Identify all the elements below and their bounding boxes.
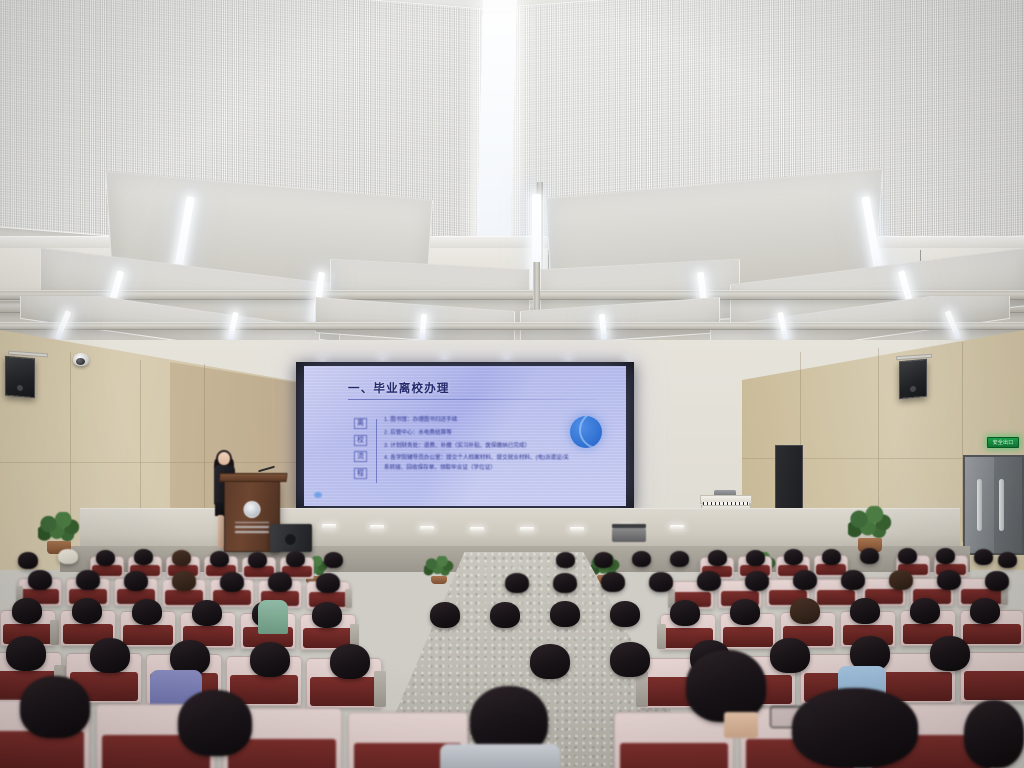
audience-head [708,550,727,566]
stage-edge-light [322,524,336,528]
audience-head [210,551,229,567]
slide-bullet: 1. 图书馆：办理图书归还手续 [384,416,574,425]
audience-head [18,552,38,569]
ceiling-light-slot [477,0,518,240]
audience-head [937,570,961,590]
audience-head [530,644,570,679]
audience-neck [724,712,758,738]
audience-head [889,570,913,590]
stage-downlight [440,356,449,361]
exit-sign-label: 安全出口 [993,439,1014,446]
audience-head [550,601,580,627]
audience-head [90,638,130,673]
audience-head [220,572,244,592]
projection-screen: 一、毕业离校办理 离 校 流 程 1. 图书馆：办理图书归还手续 2. 后管中心… [304,366,626,506]
potted-plant [38,512,80,554]
podium-top [219,473,288,482]
slide-label-box: 程 [354,468,367,479]
audience-head [930,636,970,671]
eyeglasses [770,706,814,728]
audience-head [910,598,940,624]
audience-head [649,572,673,592]
ceiling-beam [0,322,1024,330]
audience-head-foreground [792,688,918,768]
audience-head [556,552,575,568]
audience-head [505,573,529,593]
audience-head [324,552,343,568]
audience-head [998,552,1017,568]
audience-head [746,550,765,566]
audience-head [594,552,613,568]
door-push-bar[interactable] [977,479,982,531]
audience-head [316,573,340,593]
audience-torso [440,744,560,768]
slide-bullet: 2. 后管中心：水电费结算等 [384,429,574,438]
slide-decor-circle [570,416,602,448]
exit-sign: 安全出口 [987,437,1019,448]
slide-bullet: 3. 计划财务处：退费、补缴（实习补贴、医保缴纳已完成） [384,442,574,451]
audience-head [610,601,640,627]
audience-head [936,548,955,564]
audience-head [58,549,78,564]
audience-head [970,598,1000,624]
audience-head [76,570,100,590]
exit-door-right[interactable] [963,455,1024,555]
audience-head [898,548,917,564]
lecture-hall-photo: 安全出口 一、毕业离校办理 离 校 流 程 [0,0,1024,768]
stage-edge-light [570,527,584,531]
audience-head [172,550,191,566]
audience-head-foreground [964,700,1024,768]
audience-head [790,598,820,624]
audience-head [248,552,267,568]
audience-head [697,571,721,591]
slide-label-box: 流 [354,451,367,462]
audience-head [134,549,153,565]
audience-head [312,602,342,628]
stage-monitor-speaker [270,524,312,552]
stage-edge-light [420,526,434,530]
control-console [612,528,646,542]
audience-head [132,599,162,625]
audience-head [124,571,148,591]
wall-speaker-left [5,356,35,399]
stage-edge-light [520,527,534,531]
stage-edge-light [370,525,384,529]
stage-edge-light [470,527,484,531]
audience-head [490,602,520,628]
audience-head [553,573,577,593]
slide-label-column: 离 校 流 程 [354,418,367,479]
wall-seam [0,462,300,463]
audience-head [268,572,292,592]
audience-head [430,602,460,628]
audience-head [96,550,115,566]
audience-head [841,570,865,590]
audience-head [632,551,651,567]
audience-head [286,551,305,567]
audience-head [985,571,1009,591]
audience-head [28,570,52,590]
potted-plant [424,556,454,584]
audience-head [730,599,760,625]
slide-label-box: 校 [354,435,367,446]
audience-head [860,548,879,564]
audience-head [670,551,689,567]
audience-head [601,572,625,592]
audience-head [12,598,42,624]
dome-camera-icon [73,353,89,366]
audience-head [974,549,993,565]
plant-foliage [848,506,892,539]
audience-head [192,600,222,626]
stage-edge-light [670,525,684,529]
audience-head [250,642,290,677]
audience-head [793,570,817,590]
slide-bullet-list: 1. 图书馆：办理图书归还手续 2. 后管中心：水电费结算等 3. 计划财务处：… [384,416,574,476]
audience-head-foreground [178,690,252,756]
stage-downlight [502,356,511,361]
audience-head [172,571,196,591]
presenter-leg [218,515,223,548]
plant-foliage [424,556,454,576]
potted-plant [848,506,892,552]
audience-head [822,549,841,565]
wall-speaker-right [899,359,927,399]
audience-head [330,644,370,679]
audience-head-foreground [20,676,90,738]
audience-head [670,600,700,626]
audience-head [784,549,803,565]
university-emblem [244,501,261,518]
audience-torso [258,600,288,634]
slide-title-underline [348,399,598,400]
audience-head [770,638,810,673]
projection-screen-frame: 一、毕业离校办理 离 校 流 程 1. 图书馆：办理图书归还手续 2. 后管中心… [296,362,634,510]
slide-bullet: 4. 各学院辅导员办公室：提交个人档案材料、提交就业材料、(电)派遣证/关系转接… [384,454,574,472]
slide-label-box: 离 [354,418,367,429]
slide-decor-dot [314,492,322,498]
audience-head [72,598,102,624]
audience-head [610,642,650,677]
audience-head [6,636,46,671]
audience-head [745,571,769,591]
plant-foliage [38,512,80,542]
door-push-bar[interactable] [999,479,1004,531]
slide-title: 一、毕业离校办理 [348,380,450,396]
audience-head [850,598,880,624]
slide-bracket [376,419,377,483]
podium-nameplate [235,522,269,533]
plant-pot [431,576,448,584]
